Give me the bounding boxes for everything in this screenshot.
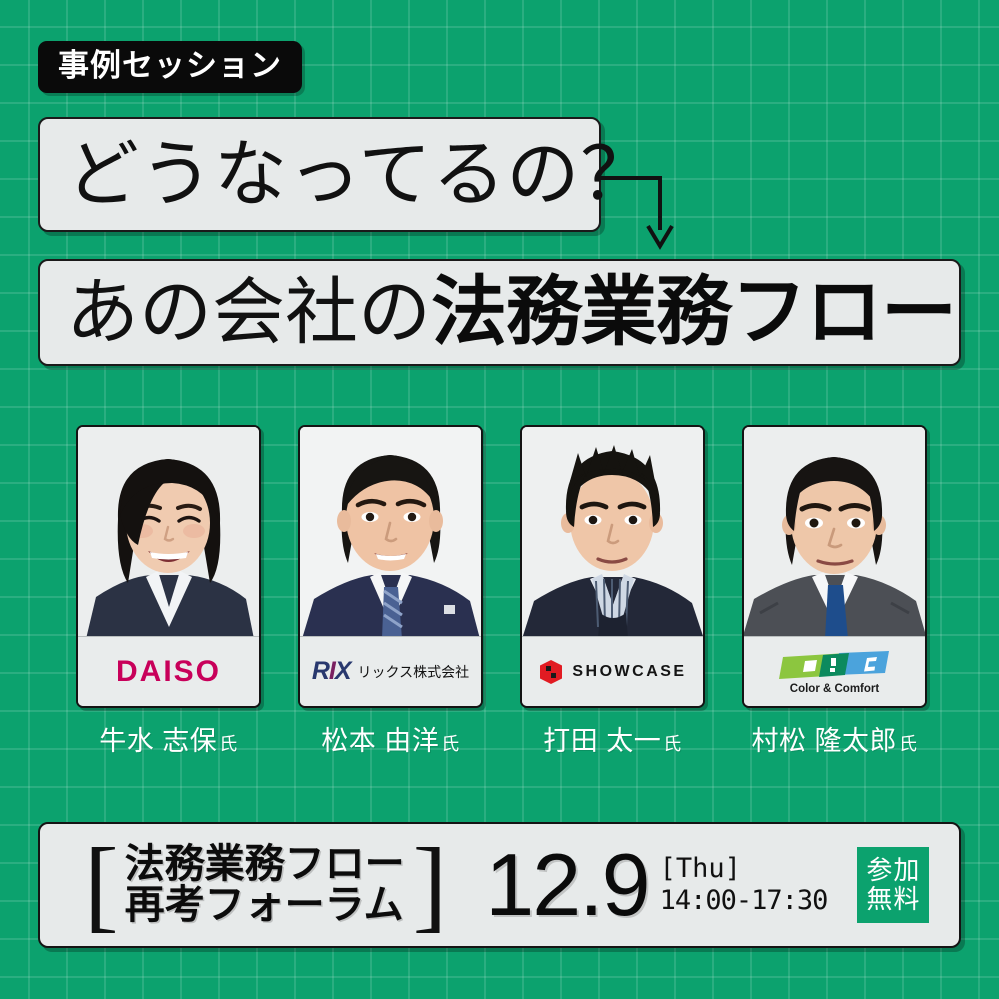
showcase-logo-text: SHOWCASE [572, 663, 686, 681]
event-date-details: [Thu] 14:00-17:30 [660, 853, 828, 917]
company-logo-1: DAISO [78, 636, 259, 706]
speaker-name-2-suffix: 氏 [441, 734, 460, 754]
speaker-name-4: 村松 隆太郎氏 [742, 719, 927, 758]
dic-tagline-text: Color & Comfort [790, 683, 879, 695]
company-logo-4: Color & Comfort [744, 636, 925, 706]
speaker-photo-card-2: RIX リックス株式会社 [298, 425, 483, 708]
headline-main-box: あの会社の 法務業務フロー [38, 259, 961, 366]
bracket-right: ] [413, 840, 448, 929]
rix-company-name-jp: リックス株式会社 [358, 662, 470, 682]
headline-main-bold-text: 法務業務フロー [431, 275, 956, 351]
event-date: 12.9 [485, 847, 648, 923]
speaker-name-1-suffix: 氏 [219, 734, 238, 754]
speaker-name-3-text: 打田 太一 [543, 726, 661, 756]
free-badge-line1: 参加 [866, 856, 920, 885]
speaker-name-1-text: 牛水 志保 [99, 726, 217, 756]
event-title-line2: 再考フォーラム [125, 885, 405, 926]
speaker-card-2: RIX リックス株式会社 松本 由洋氏 [298, 425, 483, 758]
speaker-name-4-text: 村松 隆太郎 [751, 726, 897, 756]
showcase-hexagon-icon [538, 659, 564, 685]
showcase-logo-icon: SHOWCASE [538, 659, 686, 685]
headline-main-light-text: あの会社の [66, 276, 431, 349]
speaker-name-4-suffix: 氏 [899, 734, 918, 754]
speaker-name-3-suffix: 氏 [663, 734, 682, 754]
daiso-logo-text: DAISO [116, 655, 221, 689]
speaker-photo-4 [744, 427, 925, 639]
speaker-photo-card-4: Color & Comfort [742, 425, 927, 708]
daiso-logo-icon: DAISO [116, 655, 221, 689]
event-info-bar: [ 法務業務フロー 再考フォーラム ] 12.9 [Thu] 14:00-17:… [38, 822, 961, 948]
event-poster: 事例セッション どうなってるの？ あの会社の 法務業務フロー [0, 0, 999, 999]
speaker-name-2: 松本 由洋氏 [298, 719, 483, 758]
speaker-photo-3 [522, 427, 703, 639]
event-title-line1: 法務業務フロー [125, 844, 405, 885]
free-participation-badge: 参加 無料 [857, 847, 929, 923]
session-type-badge: 事例セッション [38, 41, 302, 93]
speaker-name-1: 牛水 志保氏 [76, 719, 261, 758]
headline-question-text: どうなってるの？ [66, 138, 654, 211]
speaker-photo-2 [300, 427, 481, 639]
dic-logo-icon: Color & Comfort [779, 649, 891, 695]
dic-mark-icon [779, 649, 891, 681]
event-day-of-week: [Thu] [660, 853, 828, 885]
free-badge-line2: 無料 [866, 885, 920, 914]
speaker-card-1: DAISO 牛水 志保氏 [76, 425, 261, 758]
event-title: 法務業務フロー 再考フォーラム [125, 844, 405, 926]
bracket-left: [ [84, 840, 119, 929]
event-time-range: 14:00-17:30 [660, 885, 828, 917]
company-logo-3: SHOWCASE [522, 636, 703, 706]
speaker-photo-card-3: SHOWCASE [520, 425, 705, 708]
rix-logo-icon: RIX リックス株式会社 [312, 657, 469, 686]
speaker-name-3: 打田 太一氏 [520, 719, 705, 758]
speaker-name-2-text: 松本 由洋 [321, 726, 439, 756]
speaker-card-4: Color & Comfort 村松 隆太郎氏 [742, 425, 927, 758]
speaker-photo-card-1: DAISO [76, 425, 261, 708]
company-logo-2: RIX リックス株式会社 [300, 636, 481, 706]
headline-question-box: どうなってるの？ [38, 117, 601, 232]
elbow-down-arrow-icon [598, 168, 678, 250]
event-date-block: 12.9 [Thu] 14:00-17:30 [485, 847, 827, 923]
speaker-photo-1 [78, 427, 259, 639]
speaker-card-3: SHOWCASE 打田 太一氏 [520, 425, 705, 758]
rix-logo-text: RIX [312, 657, 351, 686]
